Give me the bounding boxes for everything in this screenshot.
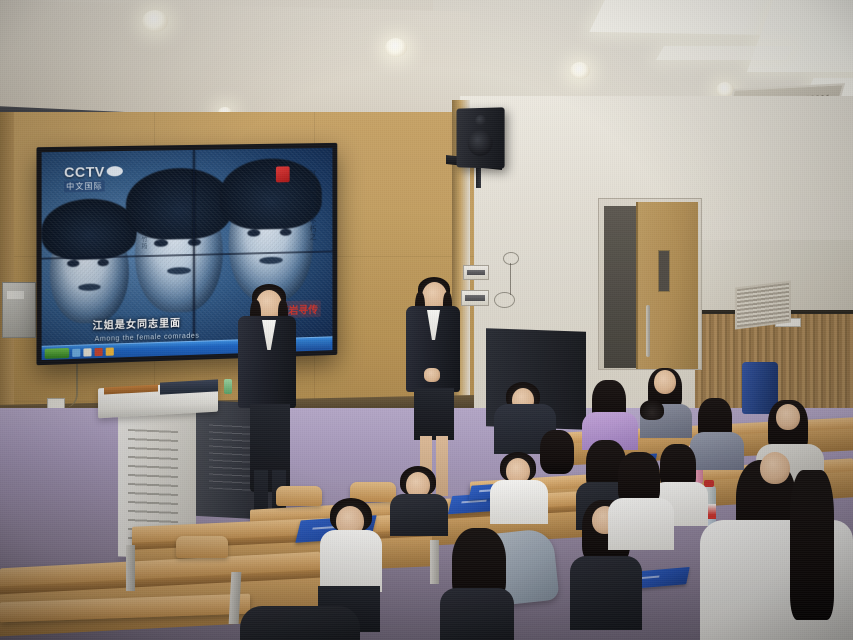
door-handle[interactable] — [646, 305, 650, 357]
portrait-figure — [135, 185, 223, 313]
head — [776, 404, 800, 430]
torso — [440, 588, 514, 640]
head — [760, 452, 790, 484]
torso — [390, 494, 448, 536]
cctv-channel-sublabel: 中文国际 — [64, 180, 105, 192]
vertical-calligraphy-text: 红岩英烈永垂不朽之 — [290, 170, 317, 242]
subtitle-chinese: 江姐是女同志里面 — [93, 314, 181, 332]
downlight-icon — [570, 62, 590, 79]
wall-control-panel-upper[interactable] — [463, 265, 489, 280]
left-wall-edge — [0, 112, 14, 442]
torso — [690, 432, 744, 470]
cctv-wordmark: CCTV — [64, 163, 123, 180]
taskbar-icon[interactable] — [106, 347, 114, 355]
wall-control-panel-lower[interactable] — [461, 290, 489, 306]
green-bottle — [224, 379, 232, 394]
classroom-photo-scene: CCTV 中文国际 红岩英烈永垂不朽之 江竹筠 红岩寻传 江姐是女同志里面 Am… — [0, 0, 853, 640]
side-calligraphy-text: 江竹筠 — [139, 229, 148, 250]
wall-speaker-icon — [457, 107, 505, 168]
wall-cable-loop — [494, 292, 515, 308]
leg — [436, 436, 448, 496]
left-junction-box — [2, 282, 36, 338]
hair — [640, 400, 664, 420]
start-button[interactable] — [45, 347, 69, 358]
ponytail — [790, 470, 834, 620]
torso — [608, 498, 674, 550]
taskbar-icon[interactable] — [72, 348, 80, 356]
desk-leg — [126, 545, 135, 591]
hair — [540, 430, 574, 474]
taskbar-icon[interactable] — [83, 348, 91, 356]
ceiling-panel-light — [656, 46, 794, 60]
wall-cable-loop — [503, 252, 519, 265]
head — [654, 370, 676, 394]
torso — [320, 530, 382, 592]
clasped-hands — [424, 368, 440, 382]
downlight-icon — [385, 38, 407, 57]
wall-cable — [510, 263, 511, 295]
torso — [570, 556, 642, 630]
chair-back — [176, 536, 228, 558]
desk-leg — [430, 540, 439, 584]
torso — [490, 480, 548, 524]
chair-back — [276, 486, 322, 506]
foreground-student — [240, 606, 360, 640]
program-red-logo-icon — [276, 166, 290, 182]
downlight-icon — [142, 10, 168, 32]
video-wall-seam — [193, 150, 195, 355]
wall-grille-icon — [735, 281, 791, 330]
door-vision-panel — [658, 250, 670, 292]
taskbar-icon[interactable] — [95, 347, 103, 355]
cctv-logo: CCTV 中文国际 — [64, 163, 123, 192]
door-open-leaf[interactable] — [604, 206, 636, 368]
portrait-figure — [50, 213, 129, 324]
skirt — [414, 388, 454, 440]
